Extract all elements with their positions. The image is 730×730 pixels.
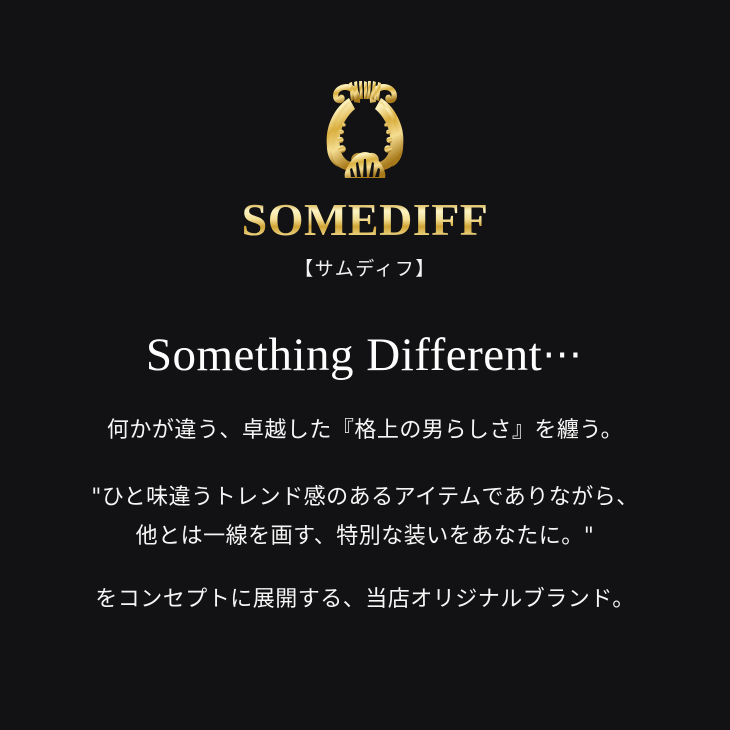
copy-closing: をコンセプトに展開する、当店オリジナルブランド。 bbox=[45, 583, 685, 616]
headline-ellipsis: ⋯ bbox=[542, 332, 584, 377]
headline-text: Something Different bbox=[146, 329, 542, 381]
copy-lead: 何かが違う、卓越した『格上の男らしさ』を纏う。 bbox=[45, 414, 685, 447]
horseshoe-emblem-icon bbox=[303, 70, 427, 182]
svg-text:SOMEDIFF: SOMEDIFF bbox=[242, 194, 489, 245]
wordmark-svg: SOMEDIFF bbox=[215, 194, 515, 248]
copy-quote: "ひと味違うトレンド感のあるアイテムでありながら、 他とは一線を画す、特別な装い… bbox=[45, 481, 685, 553]
copy-quote-line-1: "ひと味違うトレンド感のあるアイテムでありながら、 bbox=[45, 481, 685, 514]
brand-wordmark: SOMEDIFF bbox=[215, 194, 515, 248]
brand-concept-panel: SOMEDIFF 【サムディフ】 Something Different⋯ 何か… bbox=[0, 0, 730, 730]
brand-copy: 何かが違う、卓越した『格上の男らしさ』を纏う。 "ひと味違うトレンド感のあるアイ… bbox=[45, 414, 685, 616]
brand-reading: 【サムディフ】 bbox=[294, 260, 436, 279]
copy-quote-line-2: 他とは一線を画す、特別な装いをあなたに。" bbox=[45, 520, 685, 553]
page-title: Something Different⋯ bbox=[146, 331, 584, 380]
